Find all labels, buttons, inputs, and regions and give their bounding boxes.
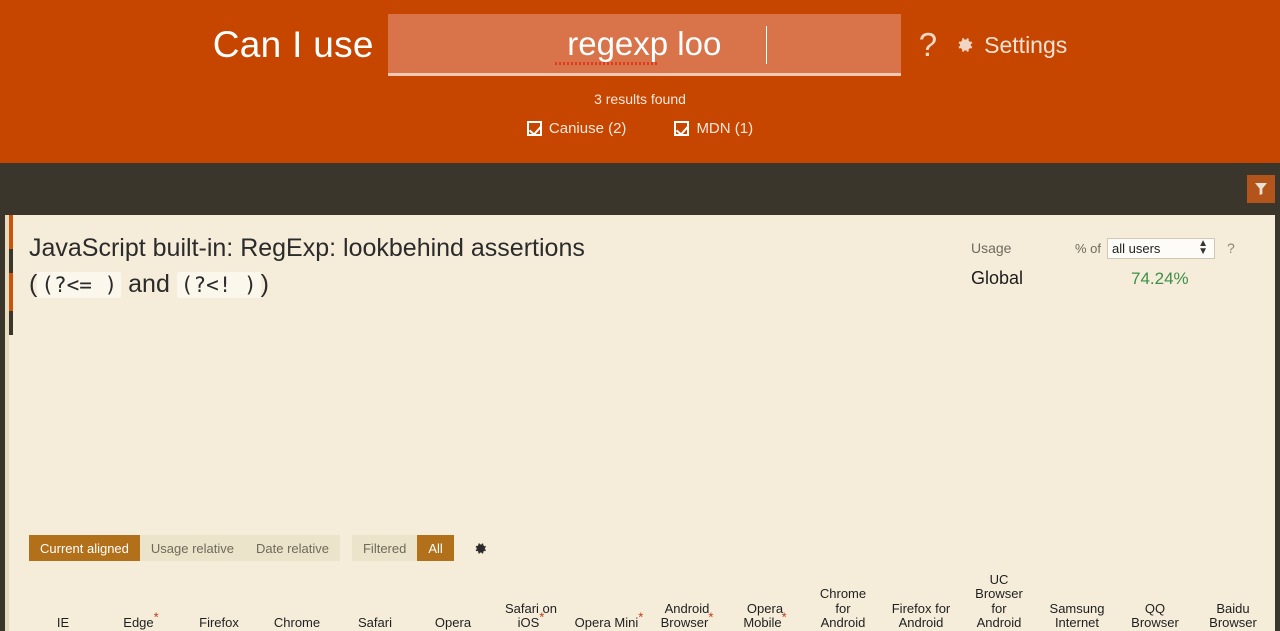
- browser-column-header: Baidu Browser: [1195, 571, 1271, 631]
- browser-name-label: Android Browser*: [659, 602, 716, 631]
- browser-column-header: Safari: [337, 571, 413, 631]
- checkbox-checked-icon[interactable]: [674, 121, 689, 136]
- brand-title: Can I use: [213, 24, 388, 66]
- browser-name-label: Edge*: [121, 616, 160, 631]
- filter-button[interactable]: [1247, 175, 1275, 203]
- page-title: JavaScript built-in: RegExp: lookbehind …: [29, 231, 969, 302]
- site-header: Can I use ? Settings 3 results found Can…: [0, 0, 1280, 163]
- tab-filtered[interactable]: Filtered: [352, 535, 417, 561]
- browser-column: QQ Browser10.4: [1117, 571, 1193, 631]
- browser-column-header: Chrome: [259, 571, 335, 631]
- browser-column: Opera Mobile*12-12.162: [727, 571, 803, 631]
- browser-name-label: Opera Mini*: [573, 616, 646, 631]
- title-paren-close: ): [261, 270, 269, 298]
- browser-column: Chrome4-6162-888990-92: [259, 571, 335, 631]
- results-count: 3 results found: [0, 91, 1280, 107]
- browser-column: Safari3.1-13.114TP: [337, 571, 413, 631]
- browser-name-label: QQ Browser: [1129, 602, 1181, 631]
- browser-name-label: Opera: [433, 616, 473, 631]
- filter-segment-group: Filtered All: [352, 535, 454, 561]
- support-table[interactable]: IE6-1011Edge*12-1879-8889Firefox2-7778-8…: [25, 571, 1275, 631]
- browser-columns: IE6-1011Edge*12-1879-8889Firefox2-7778-8…: [25, 571, 1275, 631]
- search-input[interactable]: [388, 14, 901, 76]
- browser-column: KaiOS Browser2.5: [1273, 571, 1275, 631]
- help-icon[interactable]: ?: [901, 26, 943, 64]
- browser-column: Safari on iOS*3.2-13.714.5: [493, 571, 569, 631]
- browser-name-label: IE: [55, 616, 71, 631]
- panel-accent-strip: [9, 215, 13, 335]
- asterisk-icon: *: [154, 610, 159, 625]
- source-filter-caniuse[interactable]: Caniuse (2): [527, 120, 627, 137]
- usage-label: Usage: [971, 240, 1075, 256]
- toolbar-strip: [0, 163, 1280, 215]
- tab-current-aligned[interactable]: Current aligned: [29, 535, 140, 561]
- browser-column: Edge*12-1879-8889: [103, 571, 179, 631]
- tab-usage-relative[interactable]: Usage relative: [140, 535, 245, 561]
- usage-controls-row: Usage % of all users ▲▼ ?: [971, 237, 1261, 259]
- browser-column: Samsung Internet4-7.48.2-12.013.0: [1039, 571, 1115, 631]
- browser-column: Opera10-4849-7273: [415, 571, 491, 631]
- browser-column: Firefox2-7778-858687-88: [181, 571, 257, 631]
- browser-column: Chrome for Android89: [805, 571, 881, 631]
- browser-column-header: Opera Mini*: [571, 571, 647, 631]
- browser-column: Opera Mini*all: [571, 571, 647, 631]
- browser-column-header: Opera Mobile*: [727, 571, 803, 631]
- browser-column-header: Opera: [415, 571, 491, 631]
- feature-title-text: JavaScript built-in: RegExp: lookbehind …: [29, 234, 585, 262]
- browser-name-label: Firefox for Android: [890, 602, 953, 631]
- alignment-segment-group: Current aligned Usage relative Date rela…: [29, 535, 340, 561]
- browser-column-header: Safari on iOS*: [493, 571, 569, 631]
- source-caniuse-label: Caniuse (2): [549, 120, 627, 137]
- percent-of-label: % of: [1075, 241, 1107, 256]
- usage-scope-value: all users: [1112, 241, 1160, 256]
- gear-icon: [955, 35, 975, 55]
- browser-name-label: Chrome: [272, 616, 322, 631]
- source-mdn-label: MDN (1): [696, 120, 753, 137]
- browser-column-header: IE: [25, 571, 101, 631]
- browser-name-label: Safari: [356, 616, 394, 631]
- browser-column-header: Edge*: [103, 571, 179, 631]
- browser-column-header: Samsung Internet: [1039, 571, 1115, 631]
- browser-column-header: Chrome for Android: [805, 571, 881, 631]
- asterisk-icon: *: [782, 610, 787, 625]
- asterisk-icon: *: [638, 610, 643, 625]
- view-toolbar: Current aligned Usage relative Date rela…: [29, 535, 488, 561]
- code-lookbehind-positive: (?<= ): [37, 272, 121, 298]
- browser-column: Firefox for Android86: [883, 571, 959, 631]
- browser-name-label: Safari on iOS*: [503, 602, 559, 631]
- browser-column: Baidu Browser7.12: [1195, 571, 1271, 631]
- search-wrapper: [388, 14, 901, 76]
- usage-global-row: Global 74.24%: [971, 268, 1261, 289]
- usage-scope-select[interactable]: all users ▲▼: [1107, 238, 1215, 259]
- settings-button[interactable]: Settings: [943, 32, 1067, 59]
- text-caret: [766, 26, 767, 64]
- feature-panel: JavaScript built-in: RegExp: lookbehind …: [5, 215, 1275, 631]
- checkbox-checked-icon[interactable]: [527, 121, 542, 136]
- tab-all[interactable]: All: [417, 535, 453, 561]
- settings-label: Settings: [984, 32, 1067, 59]
- title-conjunction: and: [121, 270, 177, 298]
- browser-column-header: Firefox: [181, 571, 257, 631]
- tab-date-relative[interactable]: Date relative: [245, 535, 340, 561]
- browser-name-label: Chrome for Android: [818, 587, 868, 631]
- gear-icon[interactable]: [473, 541, 488, 556]
- usage-stats: Usage % of all users ▲▼ ? Global 74.24%: [971, 237, 1261, 289]
- asterisk-icon: *: [708, 610, 713, 625]
- asterisk-icon: *: [539, 610, 544, 625]
- funnel-icon: [1254, 182, 1268, 196]
- source-filter-mdn[interactable]: MDN (1): [674, 120, 753, 137]
- browser-name-label: Opera Mobile*: [741, 602, 788, 631]
- global-label: Global: [971, 268, 1131, 289]
- browser-column-header: Firefox for Android: [883, 571, 959, 631]
- browser-column: Android Browser*2.1-4.4.489: [649, 571, 725, 631]
- code-lookbehind-negative: (?<! ): [177, 272, 261, 298]
- browser-column: IE6-1011: [25, 571, 101, 631]
- source-filters: Caniuse (2) MDN (1): [0, 120, 1280, 137]
- browser-column: UC Browser for Android12.12: [961, 571, 1037, 631]
- global-usage-value: 74.24%: [1131, 269, 1189, 289]
- search-row: Can I use ? Settings: [0, 14, 1280, 76]
- browser-name-label: Baidu Browser: [1207, 602, 1259, 631]
- browser-name-label: UC Browser for Android: [973, 573, 1025, 631]
- browser-column-header: Android Browser*: [649, 571, 725, 631]
- browser-name-label: Firefox: [197, 616, 241, 631]
- usage-help-icon[interactable]: ?: [1215, 240, 1235, 256]
- browser-column-header: QQ Browser: [1117, 571, 1193, 631]
- browser-name-label: Samsung Internet: [1048, 602, 1107, 631]
- chevron-updown-icon: ▲▼: [1198, 240, 1208, 256]
- browser-column-header: KaiOS Browser: [1273, 571, 1275, 631]
- browser-column-header: UC Browser for Android: [961, 571, 1037, 631]
